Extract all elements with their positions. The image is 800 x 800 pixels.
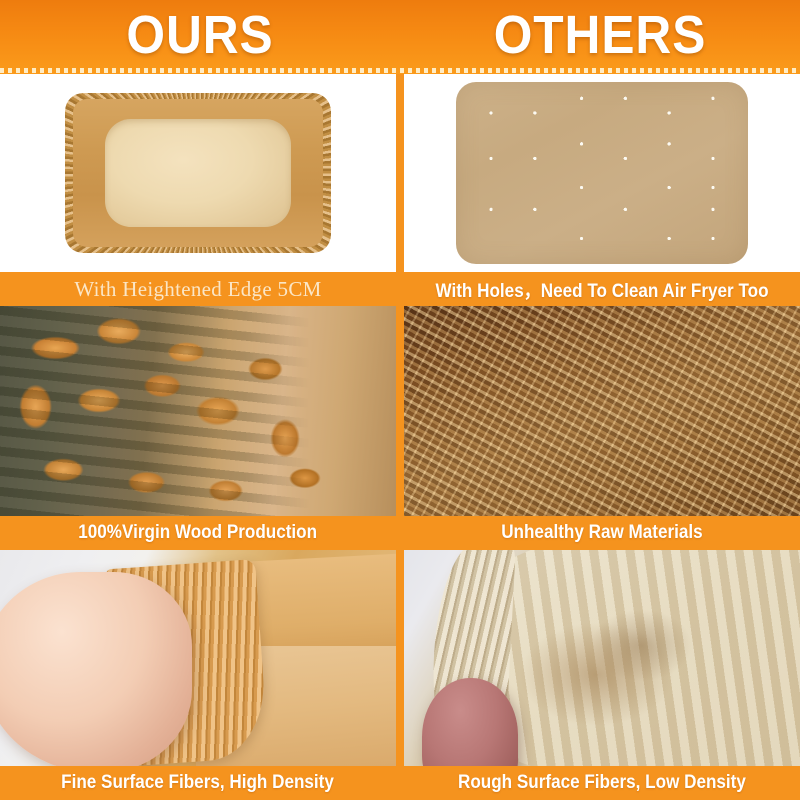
caption-bar-ours-edge: With Heightened Edge 5CM bbox=[0, 272, 396, 306]
kraft-tray-illustration bbox=[65, 93, 331, 253]
caption-bar-others-material: Unhealthy Raw Materials bbox=[404, 516, 800, 550]
header-title-ours: OURS bbox=[16, 4, 384, 66]
caption-text: 100%Virgin Wood Production bbox=[79, 522, 318, 544]
photo-wood-chips bbox=[404, 306, 800, 516]
caption-bar-others-edge: With Holes，Need To Clean Air Fryer Too bbox=[404, 272, 800, 306]
row-vertical-divider bbox=[396, 550, 404, 800]
comparison-infographic: OURS OTHERS With Heightened Edge 5CM bbox=[0, 0, 800, 800]
row-vertical-divider bbox=[396, 74, 404, 306]
cell-ours-edge: With Heightened Edge 5CM bbox=[0, 74, 396, 306]
caption-text: Rough Surface Fibers, Low Density bbox=[458, 772, 746, 794]
comparison-row-edge: With Heightened Edge 5CM With Holes，Need… bbox=[0, 74, 800, 306]
photo-thumb-holding-rough-liner bbox=[404, 550, 800, 766]
cell-ours-fiber: Fine Surface Fibers, High Density bbox=[0, 550, 396, 800]
product-photo-ours-tray bbox=[0, 74, 396, 272]
hand-fingers bbox=[0, 572, 192, 766]
perforated-sheet-illustration bbox=[456, 82, 748, 264]
cell-others-edge: With Holes，Need To Clean Air Fryer Too bbox=[404, 74, 800, 306]
caption-text: Unhealthy Raw Materials bbox=[501, 522, 702, 544]
caption-text: Fine Surface Fibers, High Density bbox=[62, 772, 335, 794]
header-dotted-divider bbox=[0, 68, 800, 73]
tray-floor bbox=[105, 119, 291, 227]
caption-text: With Holes，Need To Clean Air Fryer Too bbox=[435, 276, 768, 303]
photo-hand-holding-fine-liner bbox=[0, 550, 396, 766]
comparison-grid: With Heightened Edge 5CM With Holes，Need… bbox=[0, 74, 800, 800]
header-title-others: OTHERS bbox=[416, 4, 784, 66]
row-vertical-divider bbox=[396, 306, 404, 550]
header-bar: OURS OTHERS bbox=[0, 0, 800, 74]
comparison-row-material: 100%Virgin Wood Production Unhealthy Raw… bbox=[0, 306, 800, 550]
caption-text: With Heightened Edge 5CM bbox=[74, 277, 321, 302]
caption-bar-ours-material: 100%Virgin Wood Production bbox=[0, 516, 396, 550]
photo-stacked-logs bbox=[0, 306, 396, 516]
product-photo-others-sheet bbox=[404, 74, 800, 272]
cell-others-material: Unhealthy Raw Materials bbox=[404, 306, 800, 550]
cell-others-fiber: Rough Surface Fibers, Low Density bbox=[404, 550, 800, 800]
caption-bar-ours-fiber: Fine Surface Fibers, High Density bbox=[0, 766, 396, 800]
comparison-row-fiber: Fine Surface Fibers, High Density Rough … bbox=[0, 550, 800, 800]
cell-ours-material: 100%Virgin Wood Production bbox=[0, 306, 396, 550]
caption-bar-others-fiber: Rough Surface Fibers, Low Density bbox=[404, 766, 800, 800]
